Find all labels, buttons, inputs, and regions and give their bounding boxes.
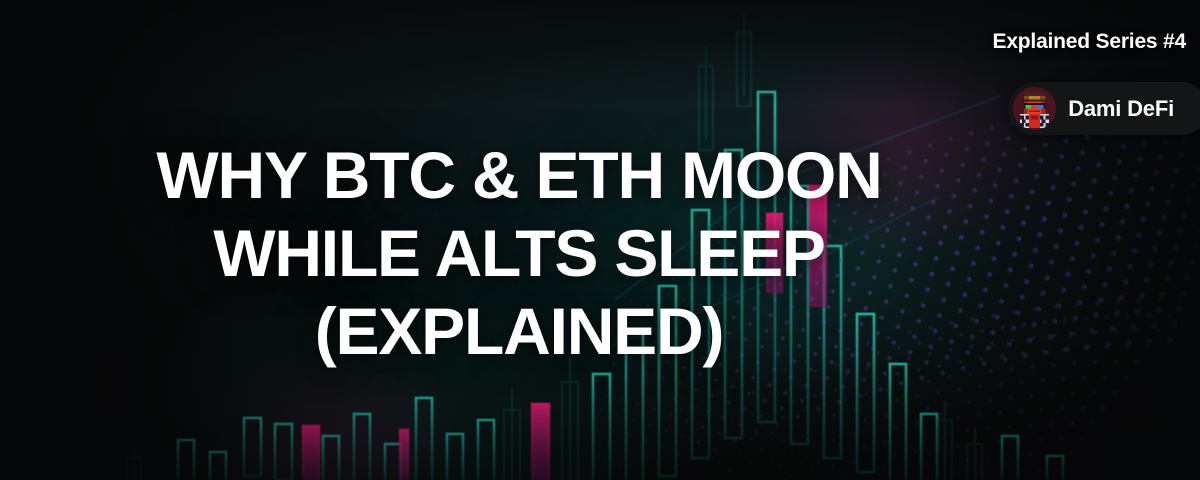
series-label: Explained Series #4 [993, 30, 1186, 54]
youtube-thumbnail: WHY BTC & ETH MOON WHILE ALTS SLEEP (EXP… [0, 0, 1200, 480]
pixel-avatar-icon [1013, 87, 1056, 130]
background-vignette [0, 0, 1200, 480]
avatar [1013, 87, 1056, 130]
author-badge[interactable]: Dami DeFi [1008, 82, 1200, 135]
author-name: Dami DeFi [1068, 96, 1174, 122]
